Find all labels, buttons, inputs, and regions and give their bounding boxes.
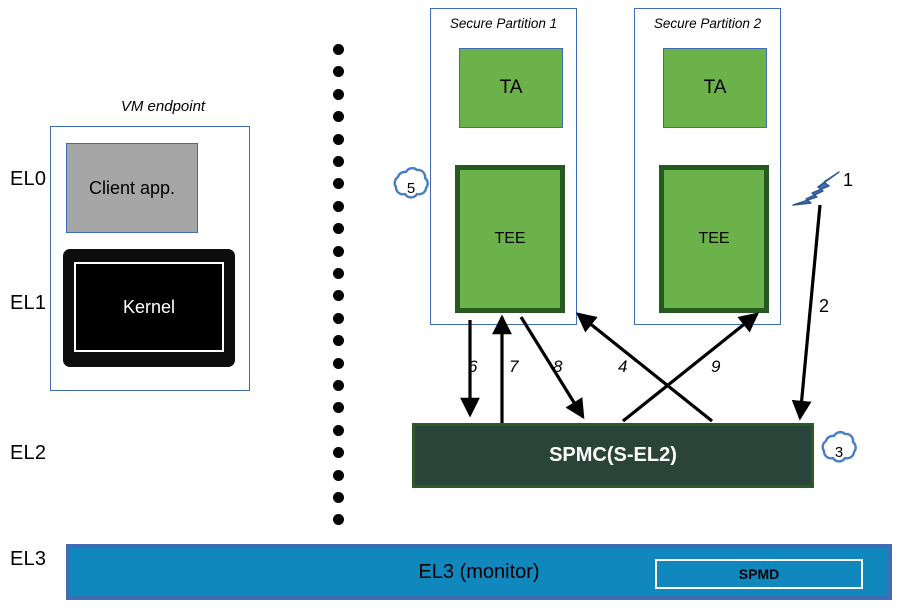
- world-divider-dotted-line: [333, 44, 347, 536]
- divider-dot: [333, 380, 344, 391]
- divider-dot: [333, 492, 344, 503]
- divider-dot: [333, 470, 344, 481]
- flow-arrow-8: [521, 317, 583, 417]
- divider-dot: [333, 178, 344, 189]
- divider-dot: [333, 44, 344, 55]
- callout-label-5: 5: [400, 180, 422, 197]
- flow-label-8: 8: [553, 357, 562, 377]
- kernel-box: Kernel: [74, 262, 224, 352]
- exception-level-label-el2: EL2: [10, 442, 46, 465]
- lightning-bolt-icon: [793, 172, 839, 205]
- divider-dot: [333, 358, 344, 369]
- flow-arrow-9: [623, 314, 757, 421]
- divider-dot: [333, 425, 344, 436]
- flow-label-7: 7: [509, 357, 518, 377]
- flow-label-1: 1: [843, 170, 853, 191]
- divider-dot: [333, 223, 344, 234]
- flow-arrow-2: [800, 205, 820, 418]
- divider-dot: [333, 111, 344, 122]
- diagram-canvas: EL0 EL1 EL2 EL3 VM endpoint Client app. …: [0, 0, 902, 608]
- spmd-box: SPMD: [655, 559, 863, 589]
- flow-label-4: 4: [618, 357, 627, 377]
- flow-arrow-4: [578, 314, 712, 421]
- divider-dot: [333, 268, 344, 279]
- callout-label-3: 3: [828, 444, 850, 461]
- divider-dot: [333, 335, 344, 346]
- divider-dot: [333, 201, 344, 212]
- exception-level-label-el1: EL1: [10, 292, 46, 315]
- divider-dot: [333, 447, 344, 458]
- flow-label-6: 6: [468, 357, 477, 377]
- vm-endpoint-title: VM endpoint: [78, 98, 248, 115]
- exception-level-label-el0: EL0: [10, 168, 46, 191]
- divider-dot: [333, 402, 344, 413]
- secure-partition-2-tee-box: TEE: [659, 165, 769, 313]
- divider-dot: [333, 290, 344, 301]
- divider-dot: [333, 246, 344, 257]
- divider-dot: [333, 89, 344, 100]
- secure-partition-2-title: Secure Partition 2: [634, 16, 781, 31]
- spmc-box: SPMC(S-EL2): [412, 423, 814, 488]
- secure-partition-1-ta-box: TA: [459, 48, 563, 128]
- divider-dot: [333, 313, 344, 324]
- flow-label-9: 9: [711, 357, 720, 377]
- secure-partition-2-ta-box: TA: [663, 48, 767, 128]
- secure-partition-1-title: Secure Partition 1: [430, 16, 577, 31]
- divider-dot: [333, 134, 344, 145]
- exception-level-label-el3: EL3: [10, 548, 46, 571]
- divider-dot: [333, 514, 344, 525]
- flow-label-2: 2: [819, 296, 829, 317]
- divider-dot: [333, 156, 344, 167]
- secure-partition-1-tee-box: TEE: [455, 165, 565, 313]
- divider-dot: [333, 66, 344, 77]
- client-app-box: Client app.: [66, 143, 198, 233]
